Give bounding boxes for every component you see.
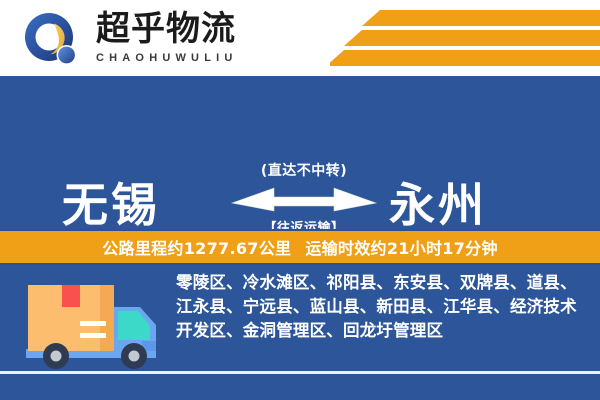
- distance-label: 公路里程约1277.67公里: [102, 235, 291, 259]
- double-headed-arrow-icon: [228, 184, 380, 214]
- company-name-cn: 超乎物流: [96, 9, 276, 49]
- arrow-container: [228, 184, 380, 214]
- ground-divider: [0, 371, 600, 374]
- banner-header: 超乎物流 CHAOHUWULIU: [0, 0, 600, 76]
- coverage-areas: 零陵区、冷水滩区、祁阳县、东安县、双牌县、道县、江永县、宁远县、蓝山县、新田县、…: [176, 271, 588, 343]
- destination-city: 永州: [389, 169, 487, 235]
- direct-shipping-note: (直达不中转): [228, 160, 380, 180]
- duration-label: 运输时效约21小时17分钟: [305, 235, 497, 259]
- route-panel: 无锡 (直达不中转) 【往返运输】 永州: [0, 76, 600, 229]
- route-info-bar: 公路里程约1277.67公里 运输时效约21小时17分钟: [0, 229, 600, 265]
- coverage-panel: 零陵区、冷水滩区、祁阳县、东安县、双牌县、道县、江永县、宁远县、蓝山县、新田县、…: [0, 265, 600, 400]
- logo-wordmark: 超乎物流 CHAOHUWULIU: [96, 9, 276, 64]
- coverage-areas-text: 零陵区、冷水滩区、祁阳县、东安县、双牌县、道县、江永县、宁远县、蓝山县、新田县、…: [176, 271, 588, 343]
- route-middle-block: (直达不中转) 【往返运输】: [228, 160, 380, 236]
- company-name-en: CHAOHUWULIU: [96, 52, 276, 64]
- delivery-truck-icon: [22, 277, 170, 377]
- decorative-stripes-icon: [330, 8, 600, 70]
- circular-q-logo-icon: [24, 12, 82, 68]
- origin-city: 无锡: [62, 169, 160, 235]
- logistics-route-banner: 超乎物流 CHAOHUWULIU 无锡 (直达不中转) 【往返运输】 永州 公路…: [0, 0, 600, 400]
